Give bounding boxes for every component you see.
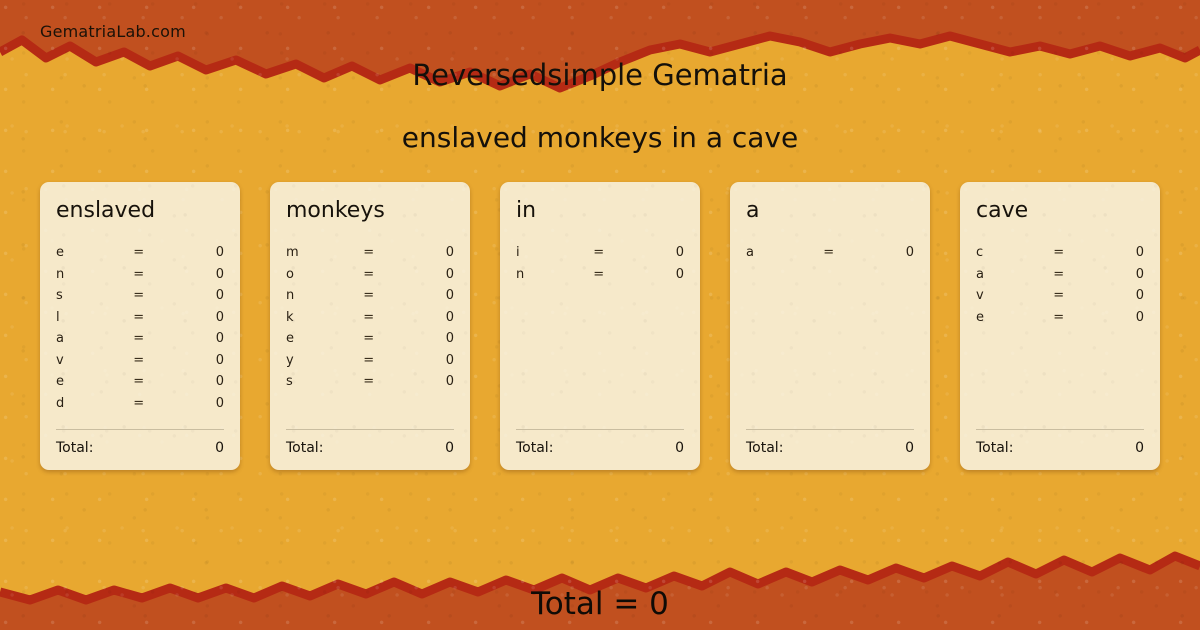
word-card-cave: cave c = 0 a = 0 v = 0 e	[960, 182, 1160, 470]
letter: c	[976, 245, 1053, 260]
equals-sign: =	[363, 374, 407, 389]
letter-value: 0	[177, 245, 224, 260]
site-logo[interactable]: GematriaLab.com	[40, 22, 186, 41]
letter-row: d = 0	[56, 393, 224, 415]
letter: e	[976, 310, 1053, 325]
letter: o	[286, 267, 363, 282]
letter-rows: e = 0 n = 0 s = 0 l = 0	[56, 242, 224, 429]
letter-row: a = 0	[56, 328, 224, 350]
card-word: enslaved	[56, 200, 224, 222]
total-value: 0	[905, 440, 914, 456]
word-card-enslaved: enslaved e = 0 n = 0 s = 0 l	[40, 182, 240, 470]
letter: l	[56, 310, 133, 325]
card-total-row: Total: 0	[516, 440, 684, 456]
equals-sign: =	[363, 310, 407, 325]
letter-row: m = 0	[286, 242, 454, 264]
letter: i	[516, 245, 593, 260]
letter: n	[516, 267, 593, 282]
letter: k	[286, 310, 363, 325]
equals-sign: =	[133, 374, 177, 389]
letter: y	[286, 353, 363, 368]
letter-row: s = 0	[56, 285, 224, 307]
letter-value: 0	[407, 331, 454, 346]
letter-value: 0	[867, 245, 914, 260]
equals-sign: =	[133, 396, 177, 411]
page-title: Reversedsimple Gematria	[0, 58, 1200, 92]
letter-row: a = 0	[976, 264, 1144, 286]
letter-row: a = 0	[746, 242, 914, 264]
equals-sign: =	[1053, 245, 1097, 260]
equals-sign: =	[1053, 288, 1097, 303]
equals-sign: =	[363, 331, 407, 346]
letter-value: 0	[1097, 245, 1144, 260]
card-total-row: Total: 0	[56, 440, 224, 456]
word-card-monkeys: monkeys m = 0 o = 0 n = 0 k	[270, 182, 470, 470]
letter-value: 0	[177, 353, 224, 368]
letter-row: y = 0	[286, 350, 454, 372]
equals-sign: =	[133, 331, 177, 346]
letter-row: e = 0	[286, 328, 454, 350]
total-value: 0	[1135, 440, 1144, 456]
letter-value: 0	[407, 310, 454, 325]
letter: d	[56, 396, 133, 411]
letter-row: n = 0	[286, 285, 454, 307]
letter-row: k = 0	[286, 307, 454, 329]
letter: v	[976, 288, 1053, 303]
equals-sign: =	[363, 353, 407, 368]
equals-sign: =	[1053, 267, 1097, 282]
equals-sign: =	[133, 267, 177, 282]
card-word: in	[516, 200, 684, 222]
card-divider	[56, 429, 224, 430]
letter-row: e = 0	[976, 307, 1144, 329]
letter-value: 0	[1097, 310, 1144, 325]
equals-sign: =	[823, 245, 867, 260]
card-total-row: Total: 0	[746, 440, 914, 456]
letter-row: v = 0	[56, 350, 224, 372]
letter-row: s = 0	[286, 371, 454, 393]
equals-sign: =	[133, 353, 177, 368]
equals-sign: =	[593, 245, 637, 260]
letter-rows: c = 0 a = 0 v = 0 e = 0	[976, 242, 1144, 429]
total-label: Total:	[56, 440, 215, 456]
equals-sign: =	[363, 267, 407, 282]
equals-sign: =	[133, 245, 177, 260]
letter-value: 0	[177, 396, 224, 411]
letter: v	[56, 353, 133, 368]
letter-value: 0	[407, 374, 454, 389]
card-divider	[516, 429, 684, 430]
card-divider	[286, 429, 454, 430]
letter-value: 0	[1097, 288, 1144, 303]
letter: e	[56, 245, 133, 260]
letter-row: n = 0	[516, 264, 684, 286]
letter-value: 0	[1097, 267, 1144, 282]
letter-value: 0	[407, 353, 454, 368]
grand-total: Total = 0	[0, 586, 1200, 622]
equals-sign: =	[363, 288, 407, 303]
page-stage: GematriaLab.com Reversedsimple Gematria …	[0, 0, 1200, 630]
letter-value: 0	[177, 267, 224, 282]
letter: s	[56, 288, 133, 303]
word-card-in: in i = 0 n = 0 Total: 0	[500, 182, 700, 470]
letter: e	[286, 331, 363, 346]
letter-value: 0	[637, 267, 684, 282]
total-label: Total:	[746, 440, 905, 456]
card-word: monkeys	[286, 200, 454, 222]
total-label: Total:	[516, 440, 675, 456]
card-divider	[976, 429, 1144, 430]
letter-value: 0	[407, 288, 454, 303]
letter-value: 0	[177, 331, 224, 346]
letter: n	[286, 288, 363, 303]
letter-value: 0	[177, 310, 224, 325]
letter: e	[56, 374, 133, 389]
letter: a	[746, 245, 823, 260]
letter: n	[56, 267, 133, 282]
phrase-subtitle: enslaved monkeys in a cave	[0, 121, 1200, 154]
total-label: Total:	[976, 440, 1135, 456]
word-card-a: a a = 0 Total: 0	[730, 182, 930, 470]
card-total-row: Total: 0	[976, 440, 1144, 456]
card-total-row: Total: 0	[286, 440, 454, 456]
letter-value: 0	[637, 245, 684, 260]
card-word: a	[746, 200, 914, 222]
letter-value: 0	[177, 288, 224, 303]
letter-row: v = 0	[976, 285, 1144, 307]
total-value: 0	[675, 440, 684, 456]
equals-sign: =	[363, 245, 407, 260]
letter: m	[286, 245, 363, 260]
total-value: 0	[215, 440, 224, 456]
letter-row: e = 0	[56, 371, 224, 393]
letter-rows: a = 0	[746, 242, 914, 429]
letter-row: o = 0	[286, 264, 454, 286]
letter: a	[56, 331, 133, 346]
letter-value: 0	[407, 267, 454, 282]
letter-rows: m = 0 o = 0 n = 0 k = 0	[286, 242, 454, 429]
total-label: Total:	[286, 440, 445, 456]
letter-row: l = 0	[56, 307, 224, 329]
letter: a	[976, 267, 1053, 282]
letter-value: 0	[407, 245, 454, 260]
equals-sign: =	[133, 288, 177, 303]
card-word: cave	[976, 200, 1144, 222]
letter-value: 0	[177, 374, 224, 389]
letter-rows: i = 0 n = 0	[516, 242, 684, 429]
letter-row: i = 0	[516, 242, 684, 264]
letter-row: e = 0	[56, 242, 224, 264]
letter-row: c = 0	[976, 242, 1144, 264]
equals-sign: =	[133, 310, 177, 325]
word-card-list: enslaved e = 0 n = 0 s = 0 l	[40, 182, 1160, 470]
equals-sign: =	[593, 267, 637, 282]
letter-row: n = 0	[56, 264, 224, 286]
total-value: 0	[445, 440, 454, 456]
card-divider	[746, 429, 914, 430]
letter: s	[286, 374, 363, 389]
equals-sign: =	[1053, 310, 1097, 325]
